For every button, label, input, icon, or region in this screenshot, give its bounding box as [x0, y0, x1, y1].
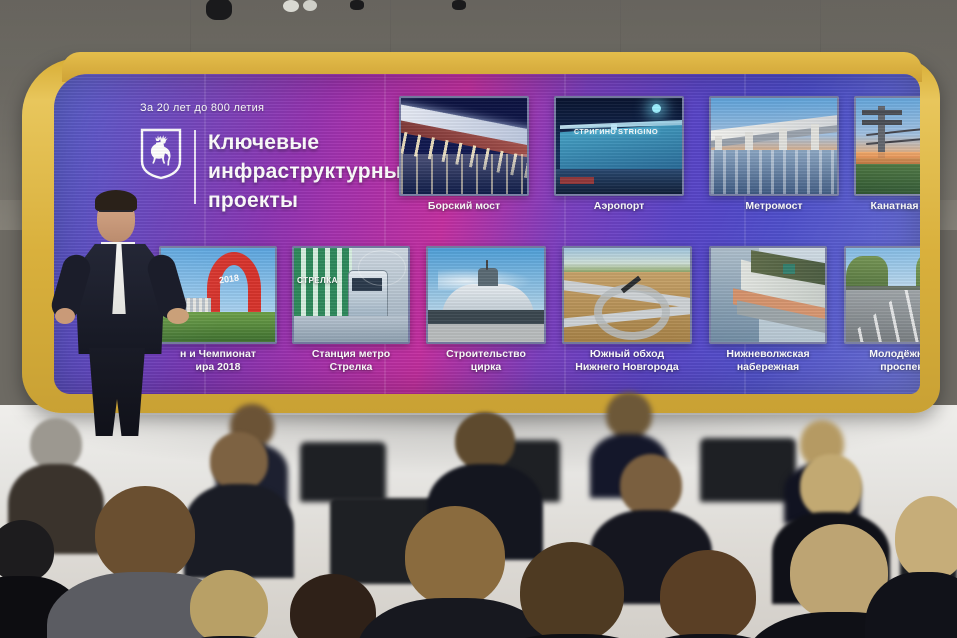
- slide-title: Ключевые инфраструктурные проекты: [208, 128, 414, 215]
- tile-metro-strelka: СТРЕЛКА Станция метро Стрелка: [292, 246, 410, 344]
- tile-southern-bypass: Южный обход Нижнего Новгорода: [562, 246, 692, 344]
- caption-line: цирка: [412, 361, 560, 374]
- tile-caption: Молодёжный проспект: [830, 348, 920, 374]
- tile-caption: Строительство цирка: [412, 348, 560, 374]
- tile-youth-avenue: Молодёжный проспект: [844, 246, 920, 344]
- tile-caption: Борский мост: [385, 200, 543, 213]
- slide-kicker: За 20 лет до 800 летия: [140, 102, 390, 114]
- tile-caption: Станция метро Стрелка: [278, 348, 424, 374]
- caption-line: Молодёжный: [830, 348, 920, 361]
- nizhny-novgorod-deer-crest-icon: [140, 128, 182, 180]
- tile-caption: Аэропорт: [540, 200, 698, 213]
- metro-station-sign: СТРЕЛКА: [297, 276, 338, 285]
- slide-title-line-1: Ключевые: [208, 128, 414, 157]
- speaker-glasses-icon: [99, 210, 133, 219]
- ceiling-light-icon-2: [303, 0, 317, 11]
- ceiling-speaker-icon: [350, 0, 364, 10]
- ceiling-speaker-icon-2: [452, 0, 466, 10]
- caption-line: Стрелка: [278, 361, 424, 374]
- ceiling-camera-icon: [206, 0, 232, 20]
- tile-caption: Метромост: [695, 200, 853, 213]
- tile-caption: Нижневолжская набережная: [695, 348, 841, 374]
- caption-line: Станция метро: [278, 348, 424, 361]
- tile-embankment: Нижневолжская набережная: [709, 246, 827, 344]
- speaker-hand-left: [55, 308, 75, 324]
- caption-line: Южный обход: [548, 348, 706, 361]
- tile-airport: СТРИГИНО STRIGINO Аэропорт: [554, 96, 684, 196]
- caption-line: Нижневолжская: [695, 348, 841, 361]
- speaker-legs: [89, 348, 145, 436]
- speaker-figure: [55, 190, 205, 440]
- caption-line: проспект: [830, 361, 920, 374]
- slide-title-line-3: проекты: [208, 186, 414, 215]
- caption-line: набережная: [695, 361, 841, 374]
- tile-caption: Южный обход Нижнего Новгорода: [548, 348, 706, 374]
- presentation-photo: За 20 лет до 800 летия Ключевые: [0, 0, 957, 638]
- caption-line: Строительство: [412, 348, 560, 361]
- tile-metro-bridge: Метромост: [709, 96, 839, 196]
- tile-cable-car: Канатная дорога: [854, 96, 920, 196]
- airport-sign-en: STRIGINO: [618, 127, 658, 136]
- speaker-hair: [95, 190, 137, 212]
- ceiling-light-icon: [283, 0, 299, 12]
- slide-title-line-2: инфраструктурные: [208, 157, 414, 186]
- speaker-hand-right: [167, 308, 189, 324]
- airport-sign-ru: СТРИГИНО: [574, 129, 616, 136]
- tile-circus: Строительство цирка: [426, 246, 546, 344]
- caption-line: Нижнего Новгорода: [548, 361, 706, 374]
- tile-caption: Канатная дорога: [840, 200, 920, 213]
- tile-borsky-bridge: Борский мост: [399, 96, 529, 196]
